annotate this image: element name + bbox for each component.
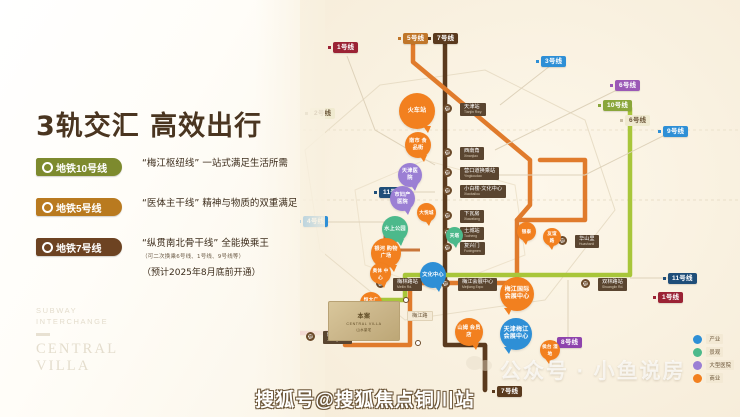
legend-label: 大型医院 [706,360,734,370]
line-description: “医体主干线” 精神与物质的双重满足 [142,197,297,210]
poi-bubble[interactable]: 梅江国际 会展中心 [500,277,534,311]
station-name-en: Xiawafang [464,217,480,222]
poi-label: 梅江国际 会展中心 [500,287,534,301]
station-name-en: Tianjin Rwy. [464,110,482,115]
poi-bubble[interactable]: 天塔 [446,227,463,244]
line-description-main: “纵贯南北骨干线” 全能换乘王 [142,238,269,249]
station-dot[interactable]: 地 [306,332,315,341]
legend-color-dot [693,361,702,370]
station-plate: 小白楼·文化中心Xiaobailou [460,185,506,198]
legend-color-dot [693,374,702,383]
legend-row: 产业 [693,334,734,344]
station-plate: 梅江会展中心Meijiang Expo [458,278,497,291]
wechat-watermark: 公众号 · 小鱼说房 [500,355,686,385]
line-badge-anchor-dot [398,37,401,40]
station-name-en: Shuanglin Rd. [602,285,623,290]
station-plate: 西南角Xinanjiao [460,147,484,160]
poi-bubble[interactable]: 市妇产医院 [390,186,415,211]
map-legend: 产业景观大型医院商业 [693,334,734,386]
station-dot-villa[interactable] [403,297,409,303]
page-title: 3轨交汇 高效出行 [36,104,262,143]
line-badge-anchor-dot [610,84,613,87]
brand-line2: INTERCHANGE [36,316,118,327]
line-description-main: “医体主干线” 精神与物质的双重满足 [142,198,297,209]
station-dot[interactable]: 地 [443,168,452,177]
poi-label: 水上公园 [382,226,408,233]
line-tag-label: 地铁7号线 [56,240,102,255]
line-badge-anchor-dot [328,46,331,49]
station-plate: 复兴门Fuxingmen [460,242,485,255]
line-number-badge[interactable]: 5号线 [403,33,428,44]
poi-bubble[interactable]: 奥体 中心 [370,263,391,284]
poi-label: 奥体 中心 [370,267,391,281]
line-description: “梅江枢纽线” 一站式满足生活所需 [142,157,288,170]
line-number-badge[interactable]: 6号线 [615,80,640,91]
station-name-en: Tucheng [464,234,480,239]
poi-label: 友谊路 [543,230,561,244]
line-tag-label: 地铁5号线 [56,200,102,215]
station-plate: 下瓦房Xiawafang [460,210,484,223]
villa-en: CENTRAL VILLA [346,322,381,326]
metro-line-list: 地铁10号线“梅江枢纽线” 一站式满足生活所需地铁5号线“医体主干线” 精神与物… [36,158,286,294]
poi-label: 市妇产医院 [390,192,415,206]
metro-line-row: 地铁7号线“纵贯南北骨干线” 全能换乘王（可二次换乘6号线、1号线、9号线等）（… [36,238,286,282]
brand-divider [36,333,50,336]
poi-bubble[interactable]: 南市 食品街 [405,132,431,158]
line-number-badge[interactable]: 10号线 [603,100,632,111]
line-badge-anchor-dot [374,191,377,194]
metro-line-row: 地铁10号线“梅江枢纽线” 一站式满足生活所需 [36,158,286,186]
poi-bubble[interactable]: 文化中心 [420,262,446,288]
line-tag-label: 地铁10号线 [56,160,107,175]
sohu-watermark: 搜狐号@搜狐焦点铜川站 [0,385,740,412]
line-number-badge[interactable]: 9号线 [663,126,688,137]
metro-icon [42,162,53,173]
poi-label: 银泰 [520,228,534,235]
line-number-badge[interactable]: 1号线 [658,292,683,303]
legend-row: 景观 [693,347,734,357]
poi-bubble[interactable]: 友谊路 [543,228,561,246]
station-plate: 天津站Tianjin Rwy. [460,103,486,116]
line-number-badge[interactable]: 7号线 [433,33,458,44]
metro-icon [42,242,53,253]
brand-line3: CENTRAL [36,341,118,358]
legend-label: 商业 [706,373,723,383]
poi-bubble[interactable]: 银泰 [517,222,536,241]
line-description-sub: （可二次换乘6号线、1号线、9号线等） [142,251,269,264]
poster-canvas: 1号线5号线7号线3号线6号线10号线9号线11号线4号线11号线1号线8号线7… [0,0,740,417]
line-badge-anchor-dot [653,296,656,299]
station-dot-south[interactable] [415,340,421,346]
line-description: “纵贯南北骨干线” 全能换乘王（可二次换乘6号线、1号线、9号线等）（预计202… [142,237,269,280]
station-plate: 华山里Huashanli [575,235,599,248]
poi-label: 文化中心 [420,272,446,279]
poi-label: 大悦城 [417,209,435,216]
station-plate: 梅林路站Meilin Rd. [393,278,422,291]
plate-villa-stop: 梅江路 [407,311,433,321]
line-badge-anchor-dot [428,37,431,40]
line-badge-anchor-dot [598,104,601,107]
station-dot[interactable]: 地 [443,211,452,220]
legend-color-dot [693,335,702,344]
legend-label: 产业 [706,334,723,344]
poi-label: 天津梅江 会展中心 [500,327,532,341]
poi-bubble[interactable]: 天津梅江 会展中心 [500,318,532,350]
line-badge-anchor-dot [658,130,661,133]
brand-watermark: SUBWAY INTERCHANGE CENTRAL VILLA [36,305,118,375]
legend-color-dot [693,348,702,357]
line-number-badge[interactable]: 11号线 [668,273,697,284]
metro-map[interactable]: 1号线5号线7号线3号线6号线10号线9号线11号线4号线11号线1号线8号线7… [285,0,740,417]
station-name-en: Meijiang Expo [462,285,493,290]
line-number-badge[interactable]: 6号线 [625,115,650,126]
poi-label: 山姆 会员店 [455,325,483,339]
line-open-note: （预计2025年8月底前开通） [142,267,269,280]
poi-bubble[interactable]: 山姆 会员店 [455,318,483,346]
central-villa-marker[interactable]: 本案 CENTRAL VILLA 山水豪宅 [328,301,400,341]
station-plate: 营口道换乘站Yingkoudao [460,167,499,180]
legend-label: 景观 [706,347,723,357]
line-number-badge[interactable]: 8号线 [557,337,582,348]
line-tag-1[interactable]: 地铁10号线 [36,158,122,176]
poi-label: 银河 购物广场 [371,246,401,260]
line-tag-3[interactable]: 地铁7号线 [36,238,122,256]
poi-bubble[interactable]: 火车站 [399,93,435,129]
station-dot[interactable]: 地 [443,186,452,195]
brand-line4: VILLA [36,358,118,375]
station-name-en: Yingkoudao [464,174,495,179]
poi-bubble[interactable]: 大悦城 [417,203,436,222]
station-name-en: Meilin Rd. [397,285,418,290]
poi-label: 天塔 [448,232,462,239]
poi-label: 天津医院 [398,168,422,182]
line-number-badge[interactable]: 1号线 [333,42,358,53]
line-badge-anchor-dot [536,60,539,63]
station-dot[interactable]: 地 [581,279,590,288]
poi-label: 火车站 [406,108,429,115]
villa-en2: 山水豪宅 [356,327,371,332]
poi-bubble[interactable]: 天津医院 [398,163,422,187]
brand-line1: SUBWAY [36,305,118,316]
station-name-en: Fuxingmen [464,249,481,254]
station-plate: 土城站Tucheng [460,227,484,240]
station-plate: 双林路站Shuanglin Rd. [598,278,627,291]
station-name-en: Xinanjiao [464,154,480,159]
line-badge-anchor-dot [620,119,623,122]
poi-label: 南市 食品街 [405,138,431,152]
legend-row: 商业 [693,373,734,383]
station-dot[interactable]: 地 [443,104,452,113]
legend-row: 大型医院 [693,360,734,370]
line-description-main: “梅江枢纽线” 一站式满足生活所需 [142,158,288,169]
station-name-en: Huashanli [579,242,595,247]
line-tag-2[interactable]: 地铁5号线 [36,198,122,216]
line-badge-anchor-dot [663,277,666,280]
station-name-en: Xiaobailou [464,192,502,197]
metro-line-row: 地铁5号线“医体主干线” 精神与物质的双重满足 [36,198,286,226]
villa-cn: 本案 [357,311,370,320]
station-dot[interactable]: 地 [443,148,452,157]
line-number-badge[interactable]: 3号线 [541,56,566,67]
metro-icon [42,202,53,213]
